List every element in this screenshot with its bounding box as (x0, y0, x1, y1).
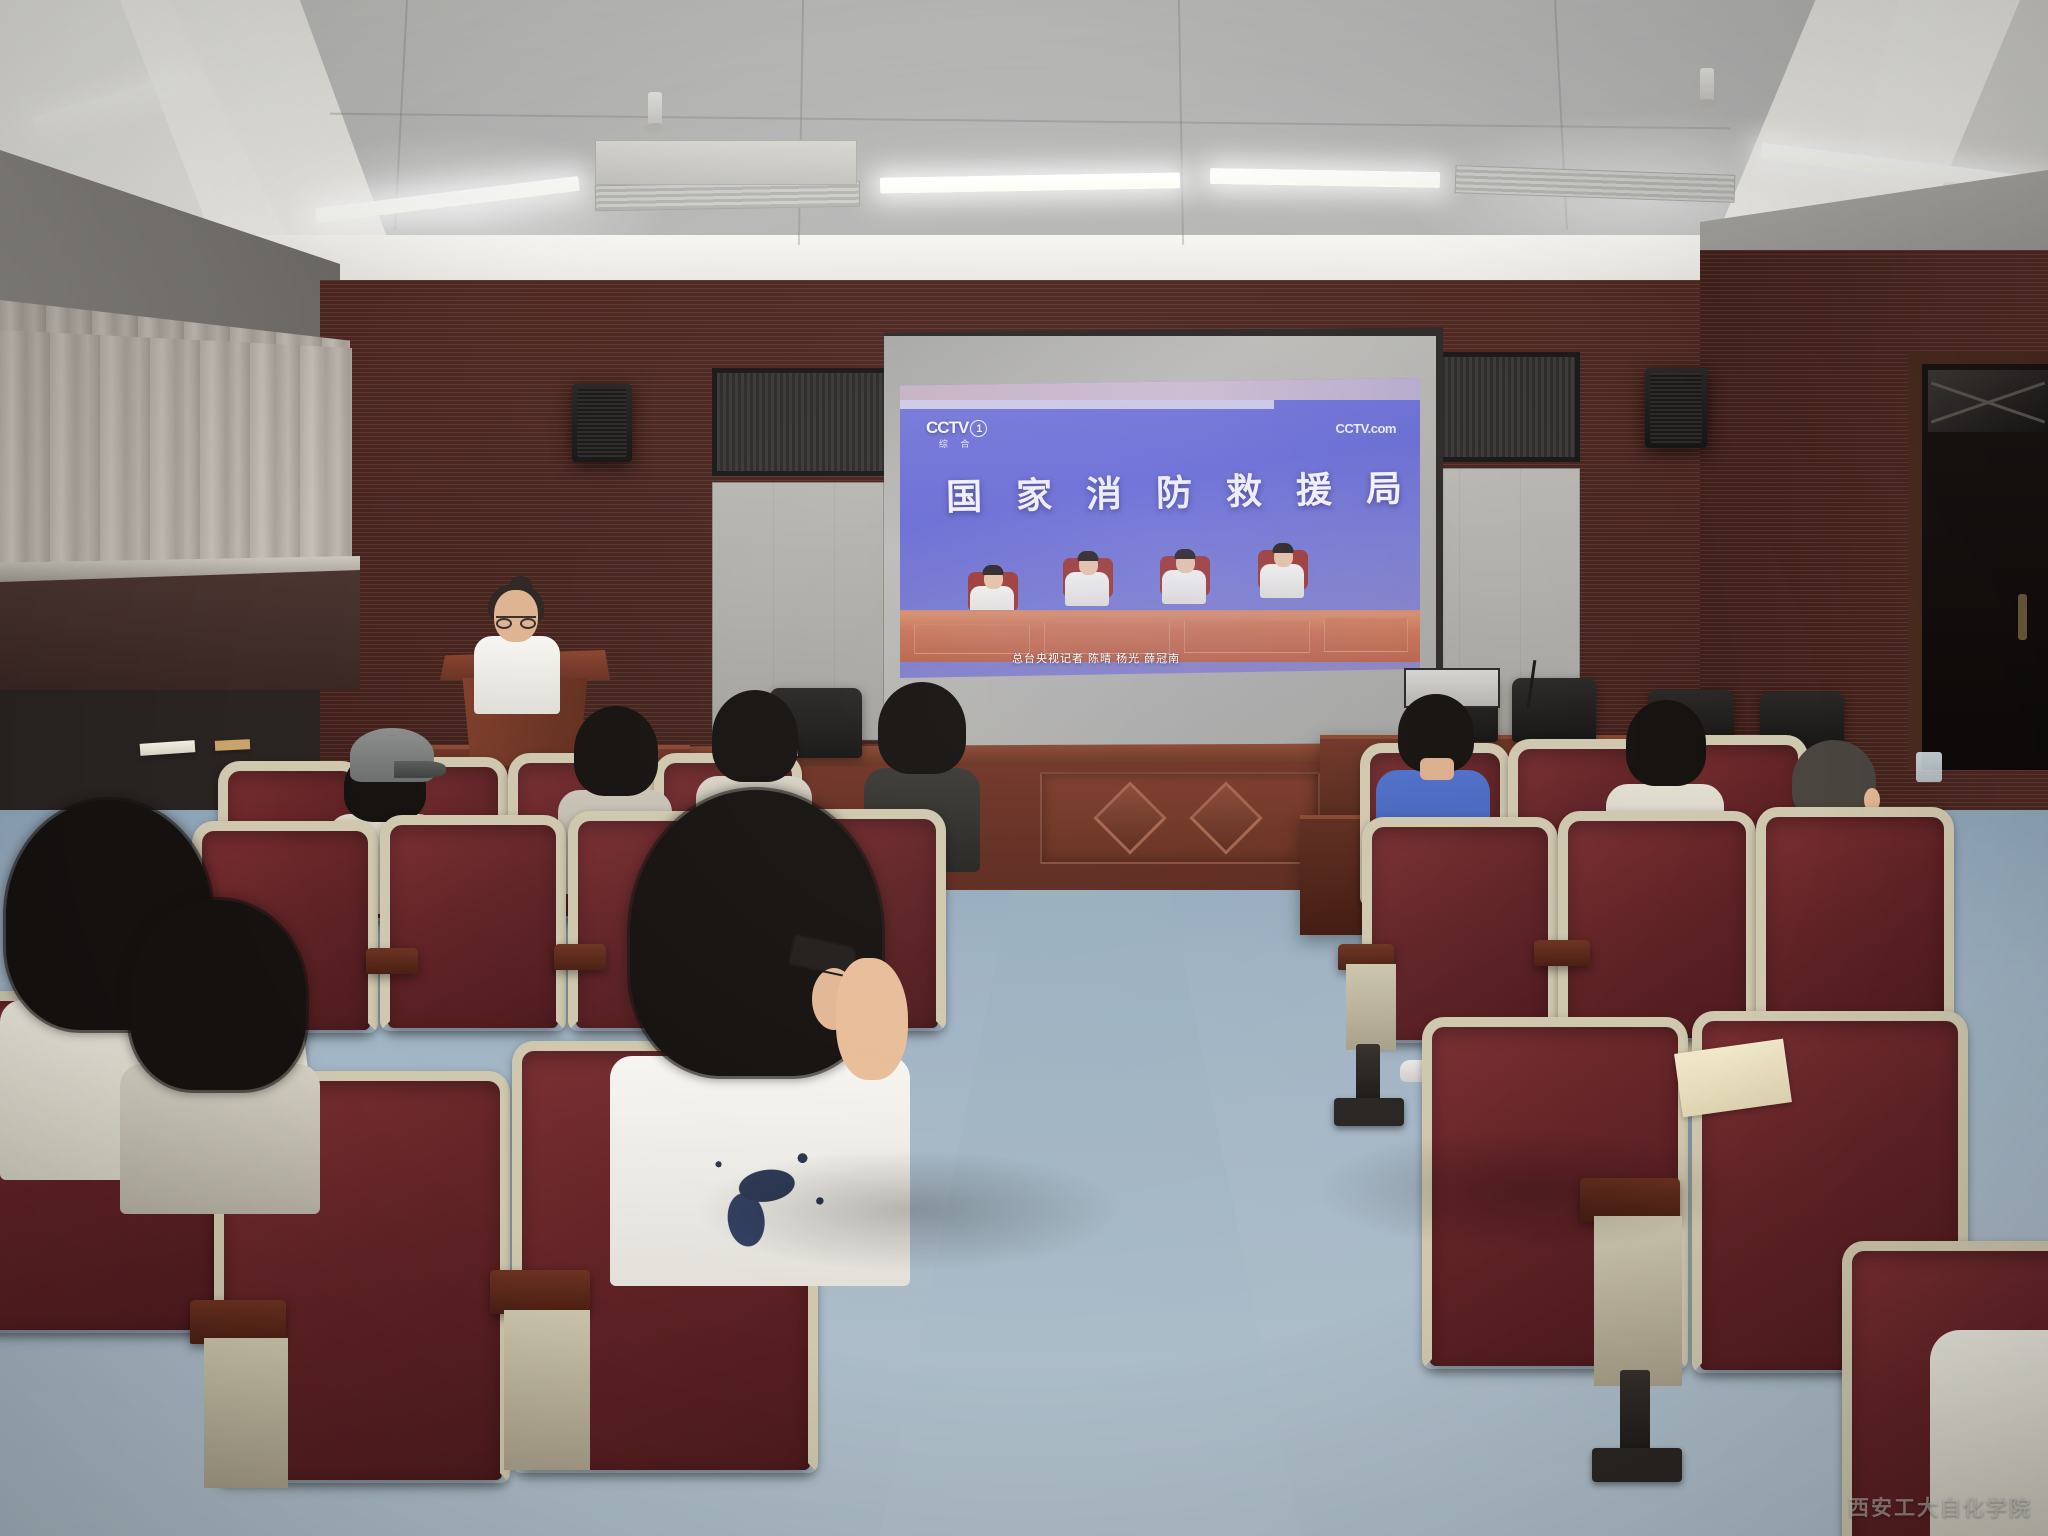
seat-armrest (490, 1270, 590, 1314)
cctv-wordmark: CCTV (926, 418, 968, 437)
seat-trim (1558, 811, 1756, 1041)
broadcast-caption: 总台央视记者 陈晴 杨光 薛冠南 (1012, 650, 1180, 666)
cctv-com-text: CCTV.com (1335, 421, 1396, 436)
auditorium-seat[interactable] (388, 824, 558, 1028)
speaker-grill (1650, 373, 1702, 443)
wall-speaker-right (1645, 368, 1707, 448)
wall-lower-left-wood (0, 570, 360, 690)
panelist-uniform (1065, 572, 1109, 606)
panelist-3 (1162, 552, 1208, 604)
sprinkler-head-icon (648, 92, 662, 126)
attendee-hair (878, 682, 966, 774)
seat-leg (1356, 1044, 1380, 1104)
broadcast-headline: 国 家 消 防 救 援 局 (946, 460, 1415, 521)
seat-floor-mount (1592, 1448, 1682, 1482)
attendee-neck (1420, 758, 1454, 780)
door-handle[interactable] (2018, 594, 2027, 640)
photograph-canvas: CCTV1 综 合 CCTV.com 国 家 消 防 救 援 局 (0, 0, 2048, 1536)
sprinkler-head-icon (1700, 68, 1714, 102)
cctv-channel-number: 1 (970, 420, 987, 437)
panelist-2 (1065, 554, 1111, 606)
ledge-paper (140, 740, 196, 756)
acoustic-panel-dark-left (712, 368, 897, 476)
grey-baseball-cap (350, 728, 434, 782)
panelist-uniform (1162, 570, 1206, 604)
seat-trim (1756, 807, 1954, 1039)
speaker-glasses-icon (496, 616, 536, 626)
speaker-torso (474, 636, 560, 714)
cctv-channel-bug: CCTV1 综 合 (926, 418, 987, 450)
exit-door[interactable] (1908, 352, 2048, 770)
door-glass-panel (1928, 370, 2048, 432)
broadcast-top-bar-secondary (900, 400, 1274, 409)
cap-brim (394, 761, 446, 777)
dais-panel (1324, 618, 1408, 652)
panelist-hair (1175, 549, 1196, 559)
attendee-hand (836, 958, 908, 1080)
panelist-hair (983, 565, 1004, 575)
auditorium-seat[interactable] (1764, 816, 1946, 1036)
panelist-4 (1260, 546, 1306, 598)
attendee-hair (712, 690, 798, 782)
water-glass (1916, 752, 1942, 782)
seat-arm-side-panel (504, 1310, 590, 1470)
panelist-hair (1273, 543, 1294, 553)
speaker-grill (577, 389, 627, 457)
seat-floor-mount (1334, 1098, 1404, 1126)
diamond-carving (1093, 781, 1167, 855)
dais-panel (1184, 620, 1310, 653)
glasses-lens (520, 618, 536, 629)
glasses-lens (496, 618, 512, 629)
auditorium-seat[interactable] (1566, 820, 1748, 1038)
attendee-hair (574, 706, 658, 796)
executive-chair (1512, 678, 1596, 742)
ceiling-air-vent (595, 181, 860, 212)
panelist-hair (1078, 551, 1099, 561)
ledge-object (215, 739, 250, 751)
seat-armrest (1534, 940, 1590, 966)
cctv-channel-subtitle: 综 合 (926, 437, 987, 450)
floor-shadow (700, 1150, 1120, 1270)
photo-watermark: 西安工大自化学院 (1848, 1492, 2032, 1522)
stage-decor-panel (1040, 772, 1320, 864)
seat-armrest (554, 944, 606, 970)
panelist-uniform (1260, 564, 1304, 598)
auditorium-seat[interactable] (1370, 826, 1550, 1040)
speaker-at-podium (462, 590, 572, 720)
seat-trim (380, 815, 566, 1031)
cctv-com-watermark: CCTV.com (1335, 420, 1396, 438)
floor-shadow (1320, 1130, 1740, 1250)
seat-arm-side-panel (1346, 964, 1396, 1050)
wall-speaker-left (572, 384, 632, 462)
ceiling-diffuser (595, 140, 857, 185)
attendee-hair (130, 900, 306, 1090)
attendee-mid-left (120, 900, 320, 1160)
projected-broadcast-image: CCTV1 综 合 CCTV.com 国 家 消 防 救 援 局 (900, 378, 1420, 678)
attendee-hair (1626, 700, 1706, 786)
seat-arm-side-panel (204, 1338, 288, 1488)
diamond-carving (1189, 781, 1263, 855)
seat-armrest (366, 948, 418, 974)
seat-leg (1620, 1370, 1650, 1460)
